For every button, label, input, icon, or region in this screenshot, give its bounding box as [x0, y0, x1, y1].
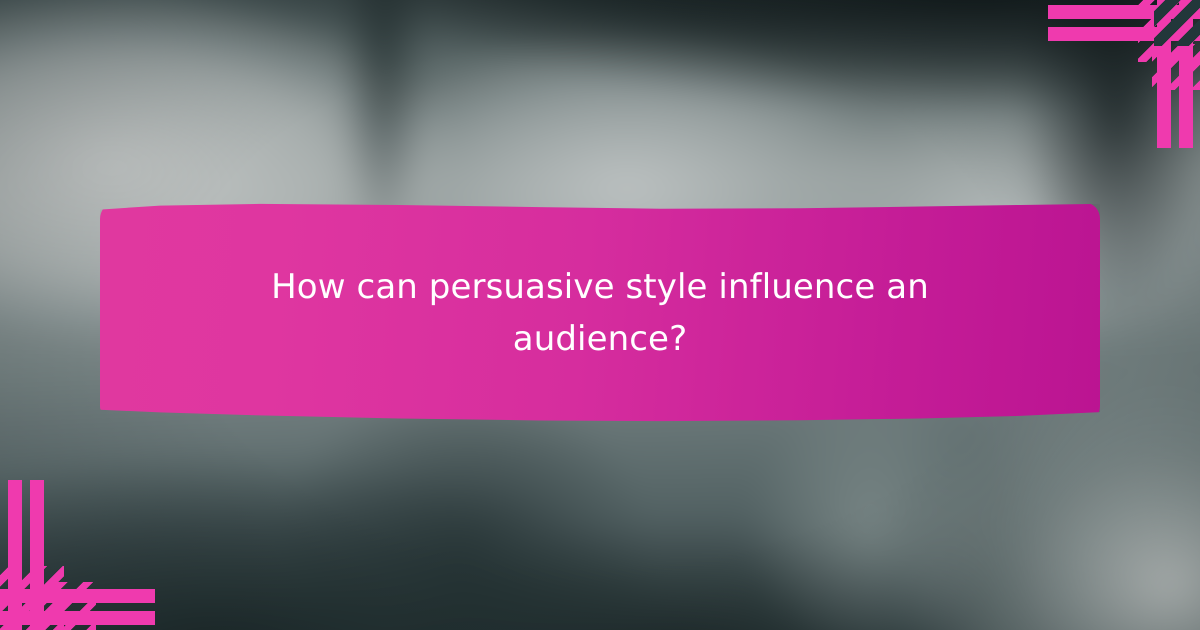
ornament-hatch-mask — [1154, 0, 1200, 46]
corner-ornament-top-right — [1044, 0, 1200, 152]
question-text: How can persuasive style influence an au… — [100, 203, 1100, 422]
ornament-hatch-secondary — [44, 582, 96, 630]
corner-ornament-bottom-left — [0, 475, 158, 630]
question-card: How can persuasive style influence an au… — [0, 0, 1200, 630]
ornament-hatch-secondary — [1152, 44, 1200, 90]
